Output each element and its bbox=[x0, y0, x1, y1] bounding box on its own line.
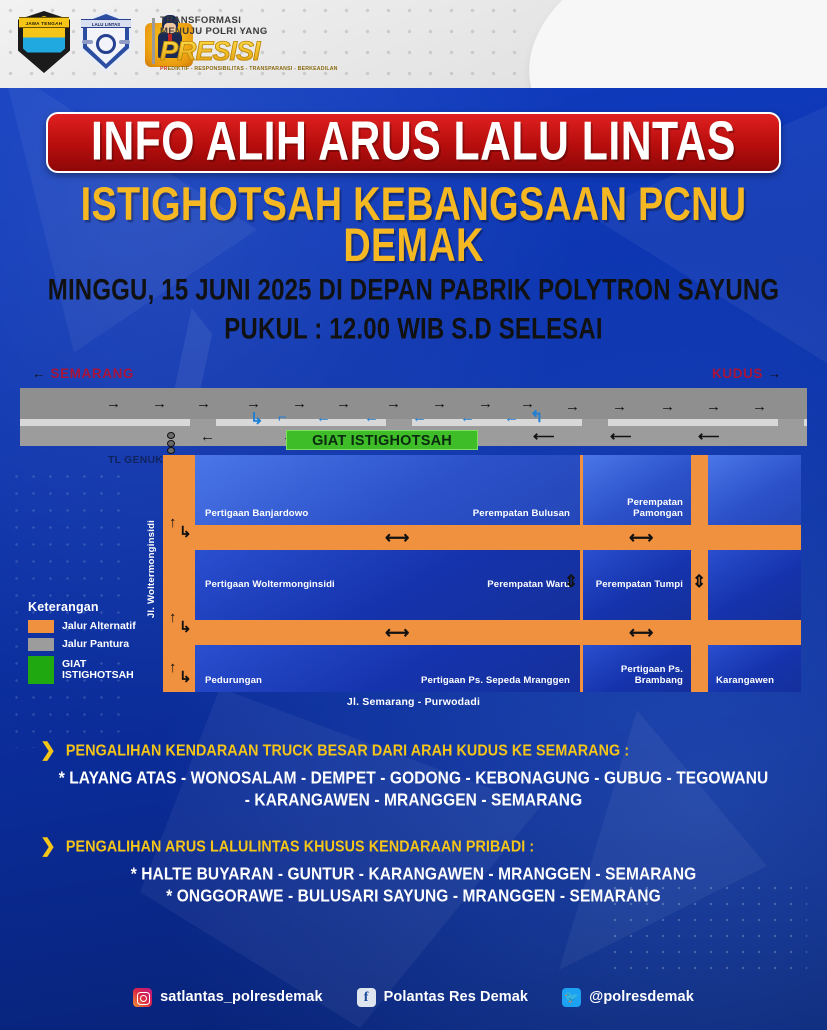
social-twitter[interactable]: @polresdemak bbox=[562, 988, 694, 1007]
presisi-tagline: PREDIKTIF - RESPONSIBILITAS - TRANSPARAN… bbox=[160, 66, 390, 72]
map-block-pedurungan: Pedurungan Pertigaan Ps. Sepeda Mranggen bbox=[195, 645, 580, 692]
bidirectional-arrow: ⟷ bbox=[385, 624, 409, 641]
legend-swatch-green bbox=[28, 656, 54, 684]
social-facebook[interactable]: f Polantas Res Demak bbox=[357, 988, 528, 1007]
map-block-banjardowo: Pertigaan Banjardowo Perempatan Bulusan bbox=[195, 455, 580, 525]
tl-genuk-label: TL GENUK bbox=[108, 454, 163, 466]
flow-arrow-east: → bbox=[478, 396, 493, 411]
lalu-lintas-logo-icon: LALU LINTAS bbox=[80, 11, 132, 73]
flow-arrow-east: → bbox=[706, 399, 721, 414]
flow-arrow-east: → bbox=[432, 396, 447, 411]
instruction-block-pribadi: ❯ PENGALIHAN ARUS LALULINTAS KHUSUS KEND… bbox=[0, 838, 827, 907]
contraflow-arrow-west: ← bbox=[316, 410, 331, 425]
presisi-tagline-prefix: PR bbox=[160, 66, 168, 72]
street-label-semarang-purwodadi: Jl. Semarang - Purwodadi bbox=[0, 696, 827, 708]
flow-arrow-east: → bbox=[336, 396, 351, 411]
event-details: MINGGU, 15 JUNI 2025 DI DEPAN PABRIK POL… bbox=[17, 275, 811, 346]
bidirectional-arrow: ⟷ bbox=[385, 529, 409, 546]
map-block-woltermonginsidi: Pertigaan Woltermonginsidi Perempatan Wa… bbox=[195, 550, 580, 620]
title-block: INFO ALIH ARUS LALU LINTAS ISTIGHOTSAH K… bbox=[0, 112, 827, 340]
node-label-banjardowo: Pertigaan Banjardowo bbox=[205, 509, 308, 520]
turn-arrow-right: ↳ bbox=[179, 670, 192, 685]
contraflow-arrow-west: ← bbox=[364, 410, 379, 425]
turn-arrow-right: ↳ bbox=[179, 620, 192, 635]
facebook-icon[interactable]: f bbox=[357, 988, 376, 1007]
legend-label-giat: GIATISTIGHOTSAH bbox=[62, 659, 134, 682]
subtitle-text: ISTIGHOTSAH KEBANGSAAN PCNU DEMAK bbox=[12, 185, 814, 267]
contraflow-arrow-west: ⌐ bbox=[278, 410, 287, 425]
arrow-right-icon: → bbox=[767, 366, 781, 381]
bidirectional-arrow-vertical: ⇕ bbox=[564, 573, 578, 590]
flow-arrow-east: → bbox=[152, 396, 167, 411]
node-label-karangawen: Karangawen bbox=[716, 676, 774, 687]
node-label-woltermonginsidi: Pertigaan Woltermonginsidi bbox=[205, 580, 335, 591]
event-time-line: PUKUL : 12.00 WIB S.D SELESAI bbox=[17, 314, 811, 346]
node-label-pamongan: Perempatan Pamongan bbox=[583, 498, 683, 519]
twitter-handle: @polresdemak bbox=[589, 989, 694, 1005]
instructions-section: ❯ PENGALIHAN KENDARAAN TRUCK BESAR DARI … bbox=[0, 742, 827, 907]
instruction-block-truck: ❯ PENGALIHAN KENDARAAN TRUCK BESAR DARI … bbox=[0, 742, 827, 811]
legend-title: Keterangan bbox=[28, 600, 156, 614]
instagram-handle: satlantas_polresdemak bbox=[160, 989, 323, 1005]
main-title-banner: INFO ALIH ARUS LALU LINTAS bbox=[46, 112, 781, 173]
bidirectional-arrow: ⟷ bbox=[629, 624, 653, 641]
bidirectional-arrow-vertical: ⇕ bbox=[692, 573, 706, 590]
contraflow-turn-arrow: ↰ bbox=[530, 410, 543, 426]
legend-item-alternatif: Jalur Alternatif bbox=[28, 620, 156, 633]
legend-label-pantura: Jalur Pantura bbox=[62, 639, 129, 651]
flow-arrow-east: → bbox=[565, 399, 580, 414]
chevron-right-icon: ❯ bbox=[40, 838, 56, 856]
social-footer: satlantas_polresdemak f Polantas Res Dem… bbox=[0, 964, 827, 1030]
node-label-brambang: Pertigaan Ps. Brambang bbox=[583, 665, 683, 686]
node-label-pedurungan: Pedurungan bbox=[205, 676, 262, 687]
instruction-heading-truck: PENGALIHAN KENDARAAN TRUCK BESAR DARI AR… bbox=[66, 742, 629, 761]
turn-arrow-up: ↑ bbox=[169, 660, 177, 675]
map-block-brambang: Pertigaan Ps. Brambang bbox=[583, 645, 691, 692]
flow-arrow-east: → bbox=[292, 396, 307, 411]
instruction-heading-row: ❯ PENGALIHAN ARUS LALULINTAS KHUSUS KEND… bbox=[0, 838, 827, 856]
flow-arrow-east: → bbox=[386, 396, 401, 411]
flow-arrow-east: → bbox=[752, 399, 767, 414]
instruction-heading-row: ❯ PENGALIHAN KENDARAAN TRUCK BESAR DARI … bbox=[0, 742, 827, 760]
flow-arrow-west: ⟵ bbox=[610, 429, 632, 444]
main-title-text: INFO ALIH ARUS LALU LINTAS bbox=[91, 117, 736, 166]
contraflow-arrow-west: ← bbox=[460, 410, 475, 425]
lalu-lintas-band-label: LALU LINTAS bbox=[81, 19, 131, 28]
turn-arrow-up: ↑ bbox=[169, 610, 177, 625]
presisi-wordmark: PRESISI bbox=[160, 37, 390, 66]
contraflow-entry-arrow: ↳ bbox=[250, 412, 263, 428]
event-date-line: MINGGU, 15 JUNI 2025 DI DEPAN PABRIK POL… bbox=[48, 273, 779, 306]
legend-swatch-orange bbox=[28, 620, 54, 633]
brand-header-bar: JAWA TENGAH LALU LINTAS TRANSFORMASI MEN… bbox=[0, 0, 827, 88]
legend-label-alternatif: Jalur Alternatif bbox=[62, 621, 136, 633]
legend-item-giat: GIATISTIGHOTSAH bbox=[28, 656, 156, 684]
contraflow-arrow-west: ← bbox=[412, 410, 427, 425]
map-block-top-right bbox=[708, 455, 801, 525]
twitter-icon[interactable] bbox=[562, 988, 581, 1007]
facebook-handle: Polantas Res Demak bbox=[384, 989, 528, 1005]
flow-arrow-west: ← bbox=[200, 429, 215, 444]
node-label-sepeda-mranggen: Pertigaan Ps. Sepeda Mranggen bbox=[421, 676, 570, 687]
header-swoosh-shape bbox=[508, 0, 827, 88]
flow-arrow-east: → bbox=[660, 399, 675, 414]
flow-arrow-east: → bbox=[196, 396, 211, 411]
flow-arrow-east: → bbox=[106, 396, 121, 411]
polda-jateng-band-label: JAWA TENGAH bbox=[19, 17, 69, 28]
contraflow-arrow-west: ← bbox=[504, 410, 519, 425]
polda-jateng-logo-icon: JAWA TENGAH bbox=[18, 11, 70, 73]
presisi-line-1: TRANSFORMASI bbox=[160, 16, 390, 27]
social-instagram[interactable]: satlantas_polresdemak bbox=[133, 988, 323, 1007]
giat-istighotsah-banner: GIAT ISTIGHOTSAH bbox=[286, 430, 478, 450]
map-block-mid-right bbox=[708, 550, 801, 620]
node-label-bulusan: Perempatan Bulusan bbox=[473, 509, 570, 520]
turn-arrow-right: ↳ bbox=[179, 525, 192, 540]
direction-label-kudus: KUDUS → bbox=[712, 366, 781, 381]
map-block-tumpi: Perempatan Tumpi bbox=[583, 550, 691, 620]
slogan-divider bbox=[152, 18, 155, 64]
instruction-route-line: * LAYANG ATAS - WONOSALAM - DEMPET - GOD… bbox=[0, 768, 827, 790]
legend-swatch-grey bbox=[28, 638, 54, 651]
flow-arrow-west: ⟵ bbox=[698, 429, 720, 444]
map-block-karangawen: Karangawen bbox=[708, 645, 801, 692]
arrow-left-icon: ← bbox=[32, 366, 46, 381]
node-label-tumpi: Perempatan Tumpi bbox=[596, 580, 683, 591]
turn-arrow-up: ↑ bbox=[169, 515, 177, 530]
instruction-route-line: * HALTE BUYARAN - GUNTUR - KARANGAWEN - … bbox=[0, 864, 827, 886]
map-legend: Keterangan Jalur Alternatif Jalur Pantur… bbox=[28, 600, 156, 689]
bidirectional-arrow: ⟷ bbox=[629, 529, 653, 546]
direction-label-semarang: ← SEMARANG bbox=[32, 366, 134, 381]
instruction-heading-pribadi: PENGALIHAN ARUS LALULINTAS KHUSUS KENDAR… bbox=[66, 838, 534, 857]
flow-arrow-east: → bbox=[612, 399, 627, 414]
instruction-route-line: * ONGGORAWE - BULUSARI SAYUNG - MRANGGEN… bbox=[0, 886, 827, 908]
instagram-icon[interactable] bbox=[133, 988, 152, 1007]
chevron-right-icon: ❯ bbox=[40, 742, 56, 760]
instruction-route-line: - KARANGAWEN - MRANGGEN - SEMARANG bbox=[0, 790, 827, 812]
legend-item-pantura: Jalur Pantura bbox=[28, 638, 156, 651]
node-label-waru: Perempatan Waru bbox=[487, 580, 570, 591]
map-block-pamongan: Perempatan Pamongan bbox=[583, 455, 691, 525]
alternate-route-grid: Pertigaan Banjardowo Perempatan Bulusan … bbox=[163, 455, 801, 692]
flow-arrow-east: → bbox=[246, 396, 261, 411]
presisi-slogan: TRANSFORMASI MENUJU POLRI YANG PRESISI P… bbox=[160, 16, 390, 72]
flow-arrow-west: ⟵ bbox=[533, 429, 555, 444]
